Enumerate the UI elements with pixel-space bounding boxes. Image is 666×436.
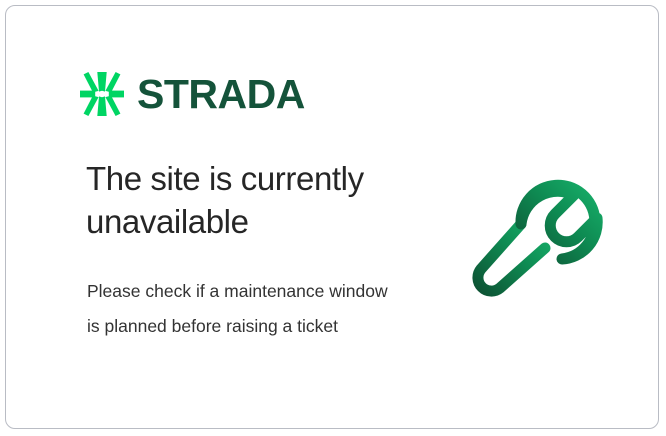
brand-lockup: STRADA (80, 72, 305, 116)
strada-asterisk-icon (80, 72, 124, 116)
maintenance-card: STRADA The site is currently unavailable… (5, 5, 659, 429)
brand-wordmark: STRADA (137, 74, 305, 115)
page-title: The site is currently unavailable (86, 158, 416, 244)
message-body: Please check if a maintenance window is … (87, 274, 397, 344)
wrench-icon (461, 158, 621, 318)
